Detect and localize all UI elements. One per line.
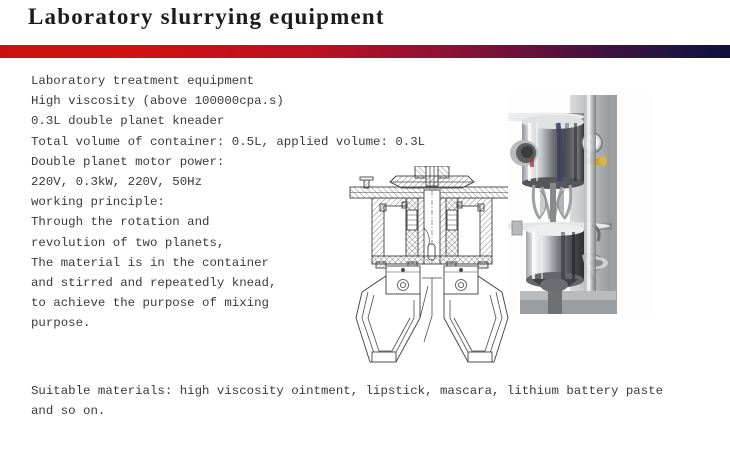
spec-line: The material is in the container xyxy=(31,253,361,273)
spec-line: 220V, 0.3kW, 220V, 50Hz xyxy=(31,172,361,192)
double-planetary-mixer-cross-section-drawing xyxy=(344,166,520,366)
spec-line: to achieve the purpose of mixing xyxy=(31,293,361,313)
suitable-materials-note: Suitable materials: high viscosity ointm… xyxy=(31,381,701,421)
specification-text-block: Laboratory treatment equipment High visc… xyxy=(31,71,361,334)
spec-line: Laboratory treatment equipment xyxy=(31,71,361,91)
spec-line: Through the rotation and xyxy=(31,212,361,232)
footer-line: and so on. xyxy=(31,401,701,421)
spec-line: 0.3L double planet kneader xyxy=(31,111,361,131)
spec-line: and stirred and repeatedly knead, xyxy=(31,273,361,293)
laboratory-mixer-photograph xyxy=(508,95,654,314)
spec-line: working principle: xyxy=(31,192,361,212)
spec-line: revolution of two planets, xyxy=(31,233,361,253)
page-title: Laboratory slurrying equipment xyxy=(28,4,385,30)
spec-line: Double planet motor power: xyxy=(31,152,361,172)
spec-line: High viscosity (above 100000cpa.s) xyxy=(31,91,361,111)
spec-line: Total volume of container: 0.5L, applied… xyxy=(31,132,361,152)
footer-line: Suitable materials: high viscosity ointm… xyxy=(31,381,701,401)
gradient-divider xyxy=(0,45,730,58)
spec-line: purpose. xyxy=(31,313,361,333)
